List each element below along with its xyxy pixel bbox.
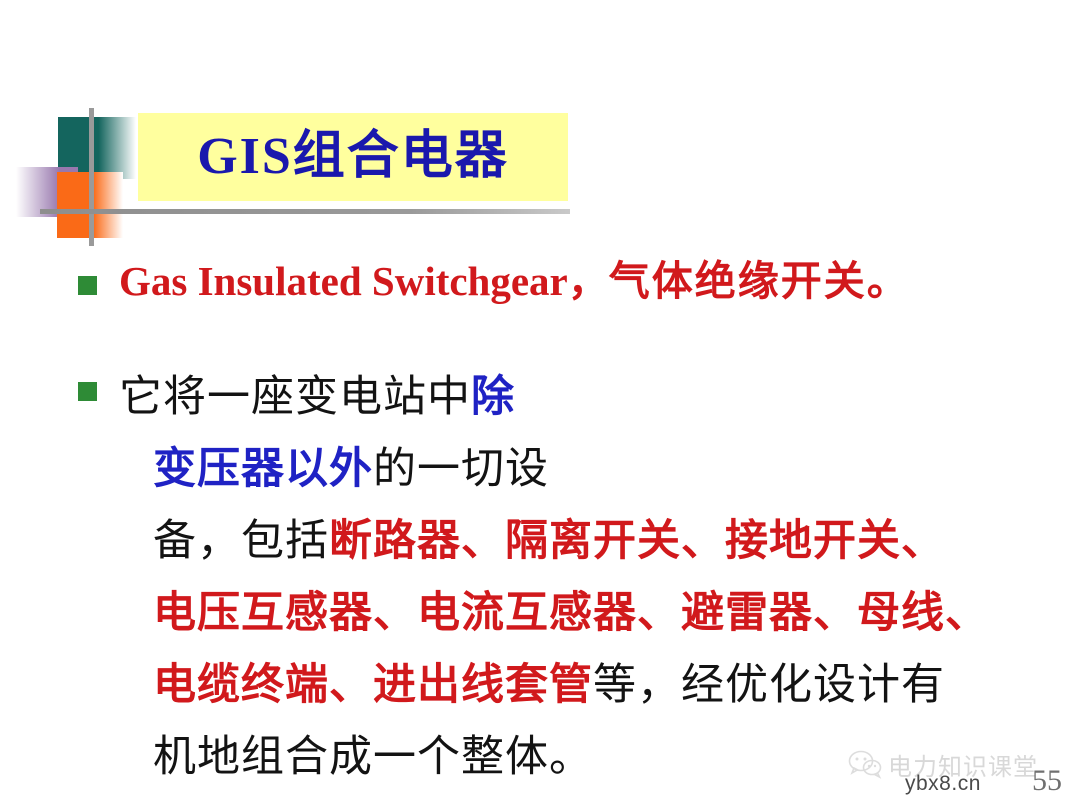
bullet-item-2: 它将一座变电站中除变压器以外的一切设备，包括断路器、隔离开关、接地开关、电压互感… [78, 362, 1058, 794]
page-title: GIS组合电器 [197, 131, 509, 183]
paragraph-line: 电缆终端、进出线套管等，经优化设计有 [119, 650, 1019, 722]
text-run-red: 电缆终端、进出线套管 [153, 662, 593, 709]
bullet-1-chinese: 气体绝缘开关。 [609, 258, 910, 304]
decoration-teal-square [58, 117, 136, 179]
wechat-icon [848, 749, 882, 779]
page-number: 55 [1032, 764, 1062, 798]
bullet-2-body: 它将一座变电站中除变压器以外的一切设备，包括断路器、隔离开关、接地开关、电压互感… [119, 362, 1058, 794]
bullet-item-1: Gas Insulated Switchgear，气体绝缘开关。 [78, 258, 1038, 305]
text-run-blue: 变压器以外 [153, 446, 373, 493]
paragraph-line: 变压器以外的一切设 [119, 434, 1019, 506]
text-run-black: 的一切设 [373, 446, 549, 493]
paragraph-line: 电压互感器、电流互感器、避雷器、母线、 [119, 578, 1019, 650]
decoration-vertical-rule [89, 108, 94, 246]
text-run-black: 备，包括 [153, 518, 329, 565]
bullet-square-icon [78, 382, 97, 401]
text-run-red: 断路器、隔离开关、接地开关、 [329, 518, 945, 565]
text-run-black: 等，经优化设计有 [593, 662, 945, 709]
decoration-horizontal-rule [40, 209, 570, 214]
bullet-square-icon [78, 276, 97, 295]
title-banner: GIS组合电器 [138, 113, 568, 201]
decoration-orange-square [57, 172, 123, 238]
paragraph-line: 备，包括断路器、隔离开关、接地开关、 [119, 506, 1019, 578]
watermark-url: ybx8.cn [905, 772, 981, 796]
text-run-black: 它将一座变电站中 [119, 374, 471, 421]
text-run-red: 电压互感器、电流互感器、避雷器、母线、 [153, 590, 989, 637]
text-run-blue: 除 [471, 374, 515, 421]
bullet-1-line: Gas Insulated Switchgear，气体绝缘开关。 [119, 258, 1038, 305]
bullet-1-english: Gas Insulated Switchgear， [119, 258, 609, 304]
slide-canvas: GIS组合电器 Gas Insulated Switchgear，气体绝缘开关。… [0, 0, 1080, 810]
bullet-1-body: Gas Insulated Switchgear，气体绝缘开关。 [119, 258, 1038, 305]
paragraph-text: 它将一座变电站中除变压器以外的一切设备，包括断路器、隔离开关、接地开关、电压互感… [119, 362, 1019, 794]
decoration-purple-square [16, 167, 78, 217]
text-run-black: 机地组合成一个整体。 [153, 734, 593, 781]
paragraph-line: 它将一座变电站中除 [119, 362, 1019, 434]
